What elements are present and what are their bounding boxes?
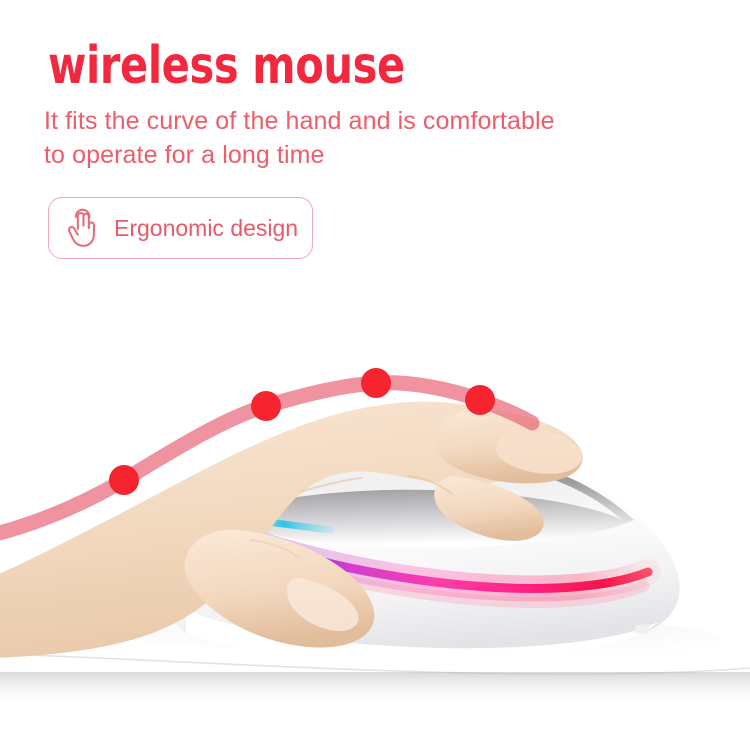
product-photo bbox=[0, 280, 750, 750]
mouse-foot bbox=[634, 624, 650, 634]
product-marketing-banner: wireless mouse It fits the curve of the … bbox=[0, 0, 750, 750]
ergonomic-design-badge: Ergonomic design bbox=[48, 197, 313, 259]
hand-on-mouse-illustration bbox=[0, 280, 750, 750]
page-title: wireless mouse bbox=[48, 38, 405, 94]
subtitle: It fits the curve of the hand and is com… bbox=[44, 104, 644, 172]
ergonomic-design-label: Ergonomic design bbox=[114, 215, 298, 242]
two-finger-tap-hand-icon bbox=[60, 205, 106, 251]
desk-shadow bbox=[0, 672, 750, 706]
subtitle-line-2: to operate for a long time bbox=[44, 138, 644, 172]
subtitle-line-1: It fits the curve of the hand and is com… bbox=[44, 104, 644, 138]
